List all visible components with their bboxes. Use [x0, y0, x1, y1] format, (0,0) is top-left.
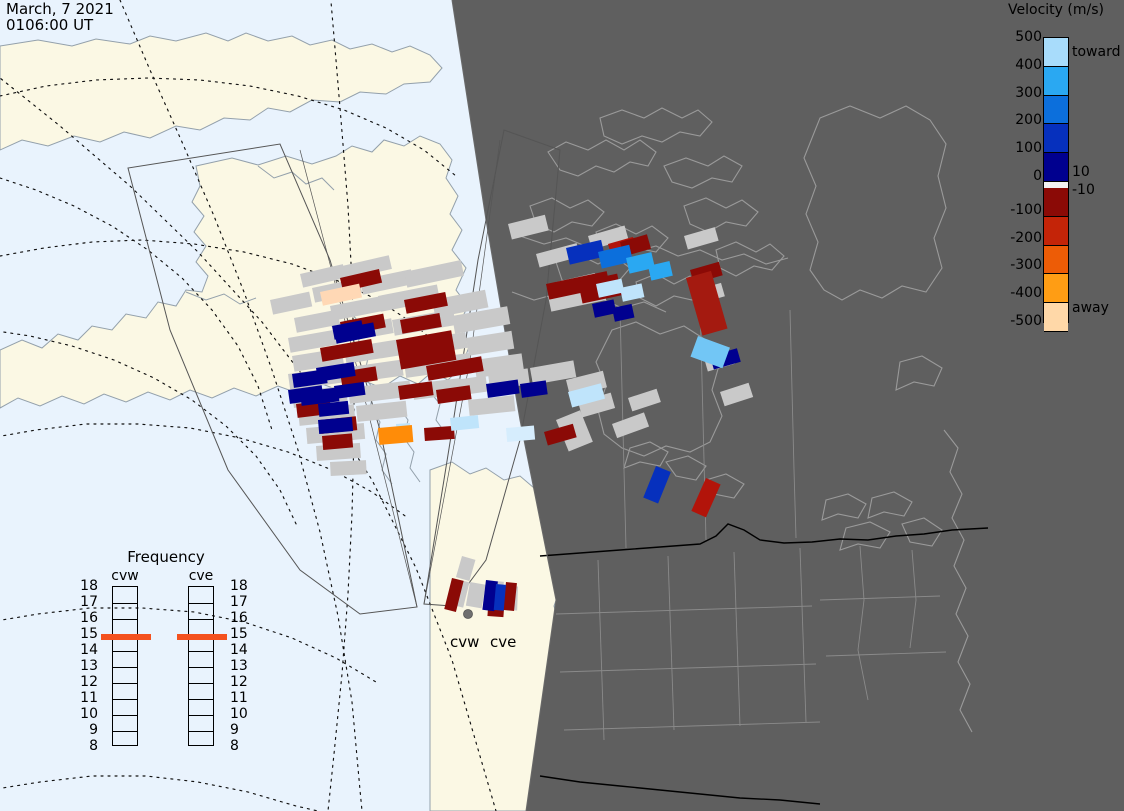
frequency-axis-label: 17: [230, 595, 248, 609]
colorbar-band: [1044, 124, 1068, 153]
frequency-tick-line: [113, 699, 137, 700]
colorbar-tick-label: 300: [1015, 85, 1042, 101]
frequency-tick-line: [189, 667, 213, 668]
frequency-axis-label: 16: [80, 611, 98, 625]
frequency-tick-line: [113, 715, 137, 716]
colorbar-tick-label: 500: [1015, 29, 1042, 45]
colorbar-tick-label: -400: [1010, 285, 1042, 301]
frequency-tick-line: [189, 715, 213, 716]
frequency-axis-label: 8: [230, 739, 239, 753]
frequency-axis-label: 15: [230, 627, 248, 641]
frequency-tick-line: [113, 731, 137, 732]
frequency-axis-label: 11: [230, 691, 248, 705]
colorbar-band: [1044, 153, 1068, 182]
colorbar-band: [1044, 246, 1068, 275]
frequency-axis-label: 15: [80, 627, 98, 641]
frequency-axis-label: 12: [80, 675, 98, 689]
frequency-axis-label: 16: [230, 611, 248, 625]
frequency-legend-title: Frequency: [96, 548, 236, 566]
frequency-column-label: cvw: [96, 568, 154, 586]
colorbar-tick-label: -200: [1010, 230, 1042, 246]
colorbar-band: [1044, 67, 1068, 96]
frequency-axis-label: 10: [230, 707, 248, 721]
colorbar-toward-label: toward: [1072, 44, 1120, 60]
frequency-tick-line: [189, 731, 213, 732]
frequency-tick-line: [189, 651, 213, 652]
colorbar-title: Velocity (m/s): [988, 2, 1124, 18]
frequency-column-cve: cve: [172, 568, 230, 746]
frequency-axis-label: 13: [230, 659, 248, 673]
colorbar-tick-label: 0: [1033, 168, 1042, 184]
frequency-axis-label: 12: [230, 675, 248, 689]
frequency-legend: Frequency cvw18171615141312111098cve1817…: [96, 548, 236, 786]
frequency-column-cvw: cvw: [96, 568, 154, 746]
frequency-tick-line: [189, 683, 213, 684]
colorbar-tick-label: 400: [1015, 57, 1042, 73]
frequency-axis-label: 14: [230, 643, 248, 657]
frequency-tick-line: [113, 667, 137, 668]
colorbar-tick-label: -500: [1010, 313, 1042, 329]
frequency-marker: [177, 634, 227, 640]
frequency-axis-label: 9: [230, 723, 239, 737]
frequency-tick-line: [113, 651, 137, 652]
frequency-tick-line: [189, 699, 213, 700]
frequency-axis-label: 8: [80, 739, 98, 753]
colorbar-away-label: away: [1072, 300, 1109, 316]
frequency-axis-label: 18: [230, 579, 248, 593]
colorbar-tick-label: -100: [1010, 202, 1042, 218]
frequency-axis-label: 10: [80, 707, 98, 721]
colorbar-band: [1044, 188, 1068, 217]
superdarn-fan-plot: cvw cve March, 7 2021 0106:00 UT Velocit…: [0, 0, 1124, 811]
colorbar-tick-label: 100: [1015, 140, 1042, 156]
colorbar-band: [1044, 38, 1068, 67]
frequency-marker: [101, 634, 151, 640]
frequency-axis-label: 9: [80, 723, 98, 737]
timestamp-label: March, 7 2021 0106:00 UT: [6, 1, 114, 33]
frequency-axis-label: 11: [80, 691, 98, 705]
frequency-tick-line: [189, 619, 213, 620]
colorbar-tick-label: -300: [1010, 257, 1042, 273]
colorbar-tick-label: 200: [1015, 112, 1042, 128]
radar-site-marker[interactable]: [464, 610, 473, 619]
frequency-scale-box[interactable]: [112, 586, 138, 746]
radar-site-label-cve: cve: [490, 633, 516, 651]
frequency-axis-label: 18: [80, 579, 98, 593]
frequency-axis-label: 14: [80, 643, 98, 657]
frequency-tick-line: [113, 619, 137, 620]
frequency-axis-label: 13: [80, 659, 98, 673]
velocity-colorbar: Velocity (m/s) 5004003002001000-100-200-…: [988, 0, 1124, 340]
colorbar-band: [1044, 217, 1068, 246]
colorbar-gradient[interactable]: [1043, 37, 1069, 323]
frequency-column-label: cve: [172, 568, 230, 586]
colorbar-band: [1044, 96, 1068, 125]
frequency-scale-box[interactable]: [188, 586, 214, 746]
colorbar-zero-upper-label: 10: [1072, 164, 1090, 180]
frequency-tick-line: [113, 683, 137, 684]
frequency-axis-label: 17: [80, 595, 98, 609]
frequency-tick-line: [113, 603, 137, 604]
frequency-tick-line: [189, 603, 213, 604]
radar-site-label-cvw: cvw: [450, 633, 479, 651]
colorbar-band: [1044, 303, 1068, 332]
colorbar-zero-lower-label: -10: [1072, 182, 1095, 198]
colorbar-band: [1044, 274, 1068, 303]
